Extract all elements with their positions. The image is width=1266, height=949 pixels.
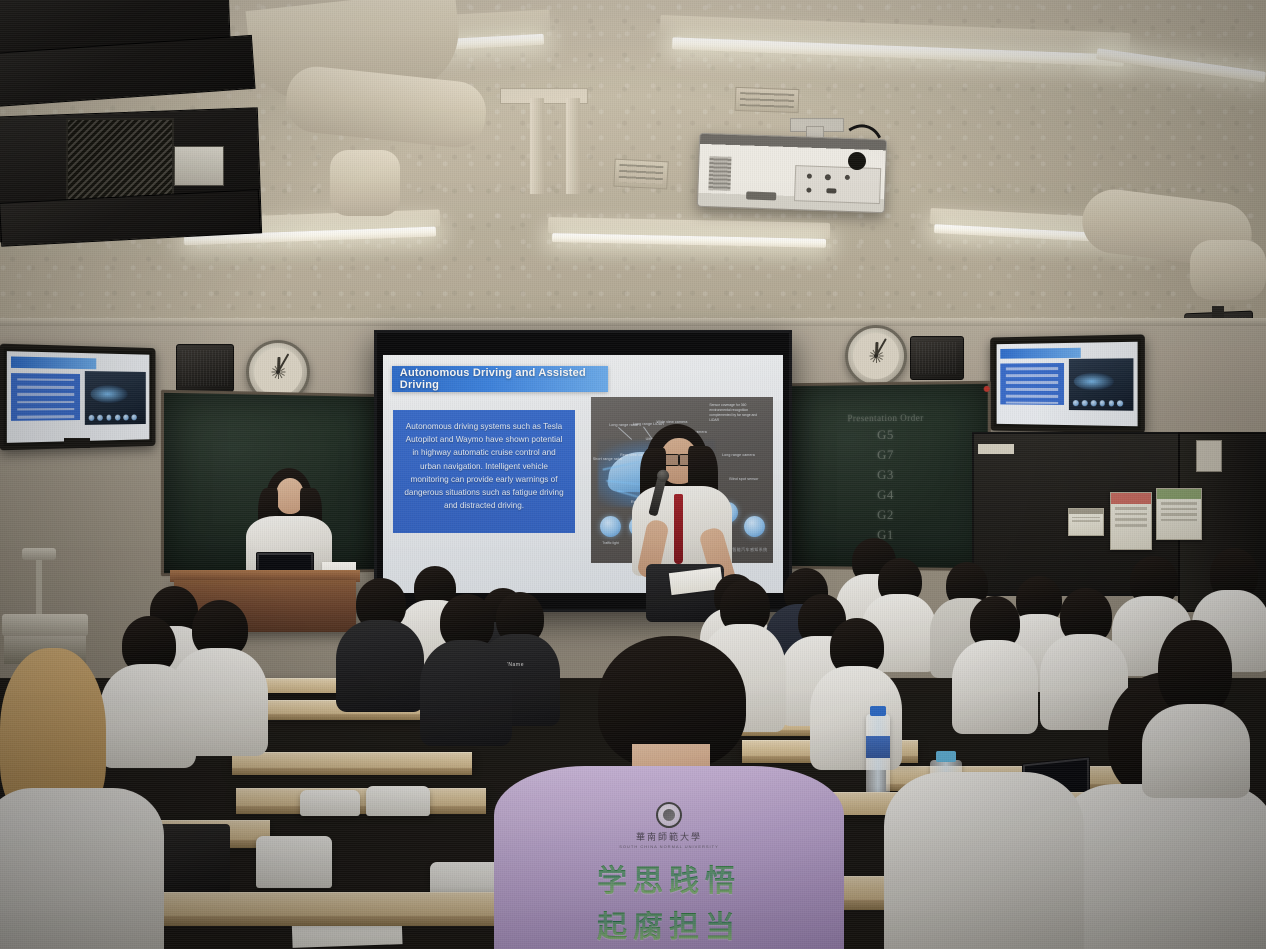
board-indicator-light bbox=[984, 386, 990, 392]
mini-slide-title bbox=[1001, 348, 1081, 359]
torso-shirt bbox=[1060, 784, 1266, 949]
mini-slide-figure bbox=[1069, 359, 1133, 411]
document-camera-head[interactable] bbox=[22, 548, 56, 560]
chalkboard-line: G4 bbox=[877, 487, 894, 503]
projector-port bbox=[826, 188, 836, 193]
slide-body-text: Autonomous driving systems such as Tesla… bbox=[393, 410, 575, 534]
traffic-light-icon bbox=[600, 516, 621, 537]
hvac-label-plate bbox=[174, 146, 224, 186]
chair[interactable] bbox=[256, 836, 332, 888]
mini-slide-title bbox=[11, 357, 96, 369]
bottle-cap bbox=[870, 706, 886, 716]
clock-center-pin bbox=[276, 370, 280, 374]
chair[interactable] bbox=[366, 786, 430, 816]
torso-shirt bbox=[952, 640, 1038, 734]
ceiling-vent bbox=[735, 87, 800, 113]
callout-label: Short range radar bbox=[593, 457, 623, 461]
projector-lens-shroud bbox=[746, 191, 776, 200]
slide-title-text: Autonomous Driving and Assisted Driving bbox=[392, 367, 608, 391]
poster-notice bbox=[1110, 492, 1152, 550]
chalkboard-line: G5 bbox=[877, 427, 894, 443]
audience-member bbox=[1142, 620, 1250, 792]
tshirt-slogan-line1: 学思践悟 bbox=[539, 856, 799, 900]
document-camera-base bbox=[2, 614, 88, 636]
mini-slide bbox=[997, 342, 1138, 427]
desk-edge bbox=[232, 768, 472, 775]
projector-vent bbox=[708, 156, 731, 191]
wall-rail bbox=[0, 318, 1266, 326]
mini-slide-body bbox=[1001, 363, 1064, 406]
ceiling-pole bbox=[530, 98, 544, 194]
wall-switch-plate[interactable] bbox=[978, 444, 1014, 454]
figure-caption: Sensor coverage for 360 environmental re… bbox=[709, 403, 767, 423]
clock-center-pin bbox=[874, 354, 878, 358]
mini-slide bbox=[7, 351, 150, 443]
university-logo-icon bbox=[656, 802, 682, 828]
monitor-stand bbox=[64, 438, 90, 448]
desk-edge bbox=[236, 806, 486, 814]
duct-drop bbox=[330, 150, 400, 216]
ceiling-vent bbox=[613, 159, 668, 190]
necktie bbox=[674, 494, 683, 564]
wall-speaker bbox=[176, 344, 234, 392]
university-name-sub: SOUTH CHINA NORMAL UNIVERSITY bbox=[539, 844, 799, 849]
torso-jacket bbox=[336, 620, 424, 712]
classroom-photo: Presentation Order G5 G7 G3 G4 G2 G1 Aut… bbox=[0, 0, 1266, 949]
wall-monitor-right[interactable] bbox=[990, 334, 1145, 433]
slide-title-bar: Autonomous Driving and Assisted Driving bbox=[392, 366, 608, 392]
intercom-panel[interactable] bbox=[1196, 440, 1222, 472]
desk-row bbox=[150, 892, 500, 919]
wall-monitor-left[interactable] bbox=[0, 344, 156, 451]
chair[interactable] bbox=[300, 790, 360, 816]
torso-shirt bbox=[1142, 704, 1250, 798]
duct-drop bbox=[1190, 240, 1266, 300]
ceiling-pole bbox=[566, 98, 580, 194]
foreground-student-right-2 bbox=[884, 748, 1084, 949]
clock-face bbox=[853, 333, 899, 379]
tshirt-print: 華南師範大學 SOUTH CHINA NORMAL UNIVERSITY 学思践… bbox=[539, 802, 799, 946]
tshirt-slogan-line2: 起腐担当 bbox=[539, 902, 799, 946]
poster-notice bbox=[1068, 508, 1104, 536]
torso-shirt bbox=[0, 788, 164, 949]
torso-shirt bbox=[170, 648, 268, 756]
torso-shirt bbox=[884, 772, 1084, 949]
mini-slide-body bbox=[11, 373, 79, 421]
audience-member bbox=[952, 596, 1038, 732]
mini-slide-figure bbox=[85, 371, 145, 425]
obstacle-icon bbox=[744, 516, 765, 537]
foreground-student-left bbox=[0, 648, 164, 949]
monitor-screen bbox=[7, 351, 150, 443]
wall-clock-right bbox=[845, 325, 907, 387]
torso-tshirt: 華南師範大學 SOUTH CHINA NORMAL UNIVERSITY 学思践… bbox=[494, 766, 844, 949]
chalkboard-line: G7 bbox=[877, 447, 894, 463]
document-camera-arm bbox=[36, 556, 42, 618]
audience-member bbox=[170, 600, 268, 754]
chalkboard-heading: Presentation Order bbox=[847, 413, 923, 424]
monitor-screen bbox=[997, 342, 1138, 427]
university-name: 華南師範大學 bbox=[539, 830, 799, 843]
wall-speaker bbox=[910, 336, 964, 380]
chalkboard-line: G2 bbox=[877, 507, 894, 523]
icon-label: Traffic light bbox=[602, 541, 618, 545]
hair bbox=[1158, 620, 1232, 716]
chalkboard-line: G3 bbox=[877, 467, 894, 483]
poster-notice bbox=[1156, 488, 1202, 540]
audience-member bbox=[336, 578, 424, 710]
projector-cable-coil bbox=[848, 152, 866, 170]
foreground-student-center: 華南師範大學 SOUTH CHINA NORMAL UNIVERSITY 学思践… bbox=[494, 636, 844, 949]
desk-edge bbox=[150, 916, 500, 926]
clock-face bbox=[254, 348, 302, 396]
